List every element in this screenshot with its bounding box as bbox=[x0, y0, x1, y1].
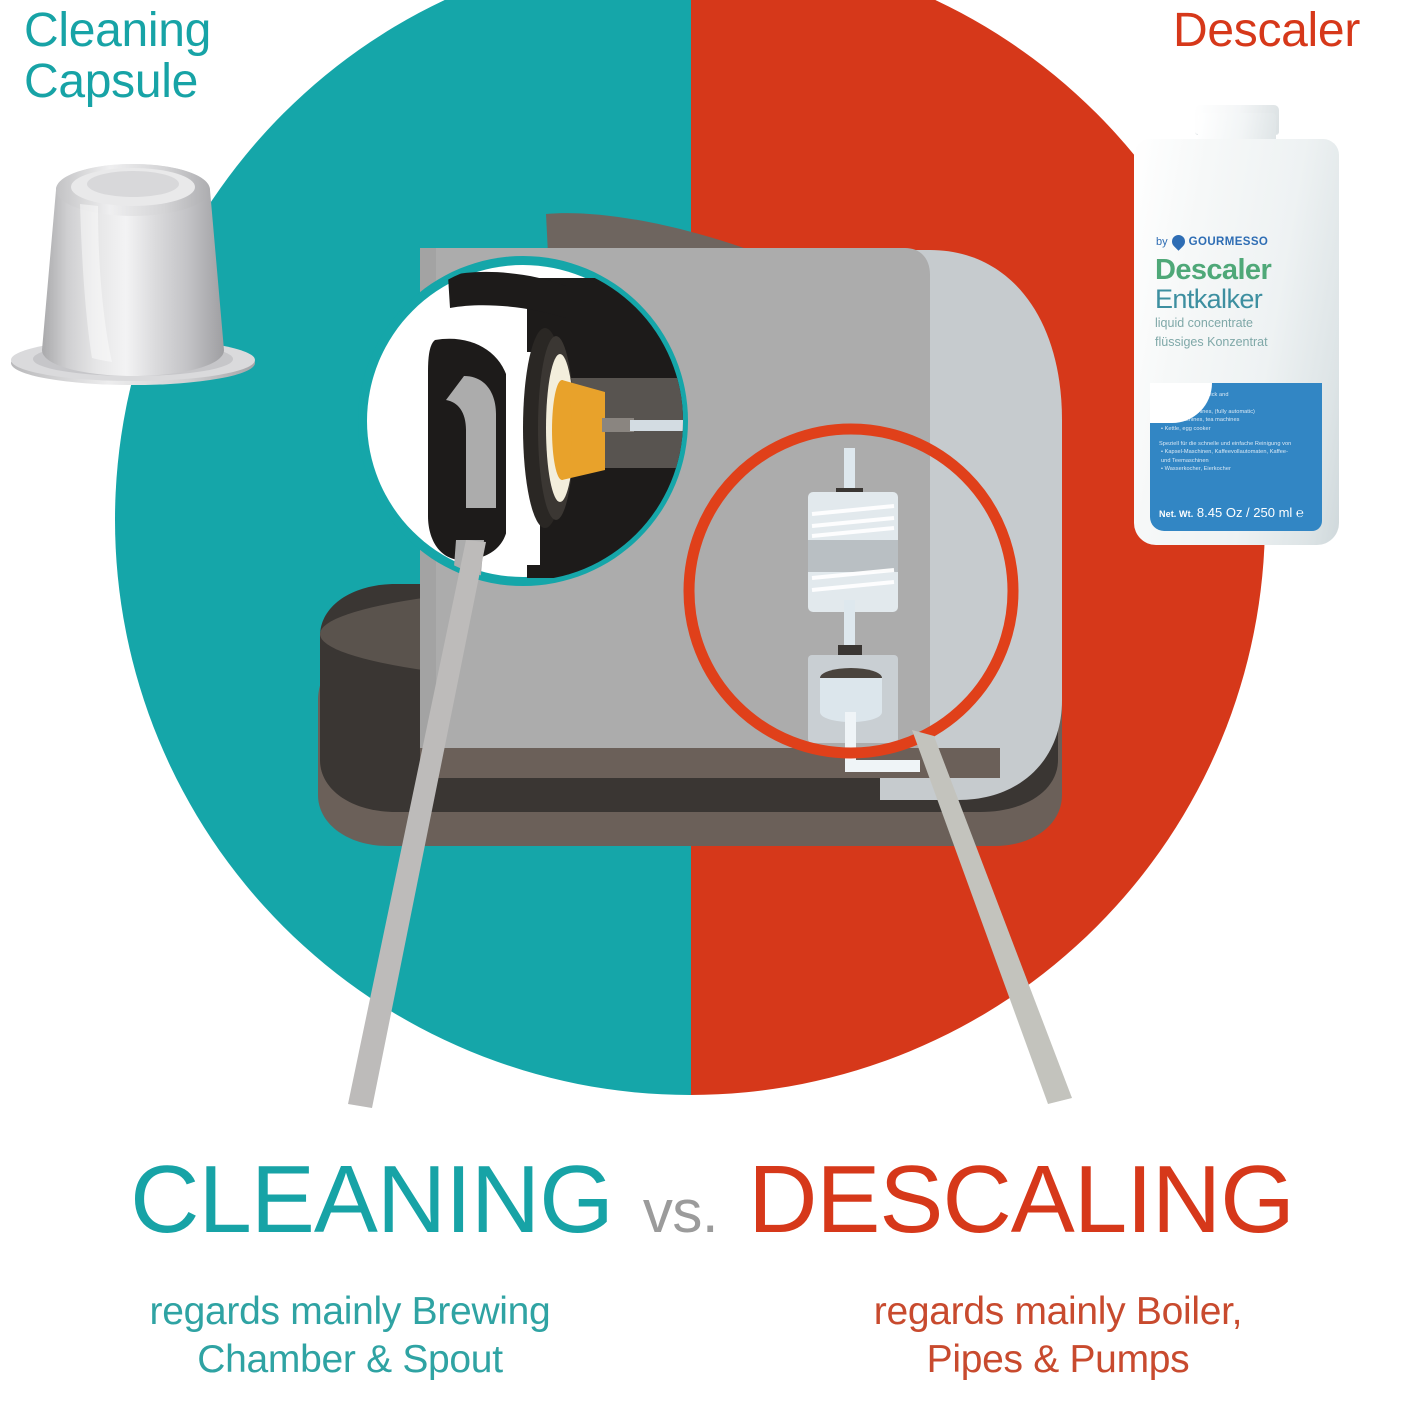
fine-print-en: Especially for the quick and easy cleani… bbox=[1159, 391, 1313, 433]
subcaption-descaling: regards mainly Boiler, Pipes & Pumps bbox=[718, 1288, 1398, 1383]
fine-print-de: Speziell für die schnelle und einfache R… bbox=[1159, 440, 1313, 474]
label-descaler: Descaler bbox=[1173, 6, 1360, 57]
aluminium-cleaning-capsule bbox=[8, 160, 258, 395]
bottle-info-panel: Especially for the quick and easy cleani… bbox=[1150, 383, 1322, 531]
brand-row: by GOURMESSO bbox=[1150, 235, 1322, 248]
fine-line: • Wasserkocher, Eierkocher bbox=[1159, 465, 1313, 473]
spacer bbox=[1159, 433, 1313, 440]
headline: CLEANING vs. DESCALING bbox=[0, 1152, 1424, 1248]
headline-vs: vs. bbox=[643, 1182, 718, 1242]
fine-line: und Teemaschinen bbox=[1159, 457, 1313, 465]
split-circle-background bbox=[115, 0, 1265, 1095]
net-weight-prefix: Net. Wt. bbox=[1159, 509, 1193, 519]
bottle-label: by GOURMESSO Descaler Entkalker liquid c… bbox=[1150, 235, 1322, 531]
water-drop-icon bbox=[1169, 232, 1187, 250]
bottle-subtitle-en: liquid concentrate bbox=[1150, 316, 1322, 332]
fine-line: • Kapsel-Maschinen, Kaffeevollautomaten,… bbox=[1159, 448, 1313, 456]
subcaption-cleaning: regards mainly Brewing Chamber & Spout bbox=[30, 1288, 670, 1383]
headline-descaling: DESCALING bbox=[748, 1152, 1294, 1248]
fine-line: Speziell für die schnelle und einfache R… bbox=[1159, 440, 1313, 448]
fine-line: • Capsule machines, (fully automatic) bbox=[1159, 408, 1313, 416]
headline-cleaning: CLEANING bbox=[130, 1152, 613, 1248]
bottle-title-en: Descaler bbox=[1150, 256, 1322, 285]
fine-line: • Kettle, egg cooker bbox=[1159, 425, 1313, 433]
bottle-subtitle-de: flüssiges Konzentrat bbox=[1150, 335, 1322, 351]
net-weight-value: 8.45 Oz / 250 ml ℮ bbox=[1197, 505, 1304, 520]
descaler-bottle: by GOURMESSO Descaler Entkalker liquid c… bbox=[1134, 105, 1339, 545]
infographic-page: Cleaning Capsule Descaler by GOURMESSO D… bbox=[0, 0, 1424, 1402]
fine-line: easy cleaning of bbox=[1159, 399, 1313, 407]
fine-line: coffee machines, tea machines bbox=[1159, 416, 1313, 424]
brand-name: GOURMESSO bbox=[1189, 236, 1269, 248]
brand-prefix: by bbox=[1156, 236, 1168, 248]
fine-line: Especially for the quick and bbox=[1159, 391, 1313, 399]
bottle-title-de: Entkalker bbox=[1150, 285, 1322, 313]
label-cleaning-capsule: Cleaning Capsule bbox=[24, 6, 211, 108]
net-weight: Net. Wt. 8.45 Oz / 250 ml ℮ bbox=[1159, 505, 1304, 520]
